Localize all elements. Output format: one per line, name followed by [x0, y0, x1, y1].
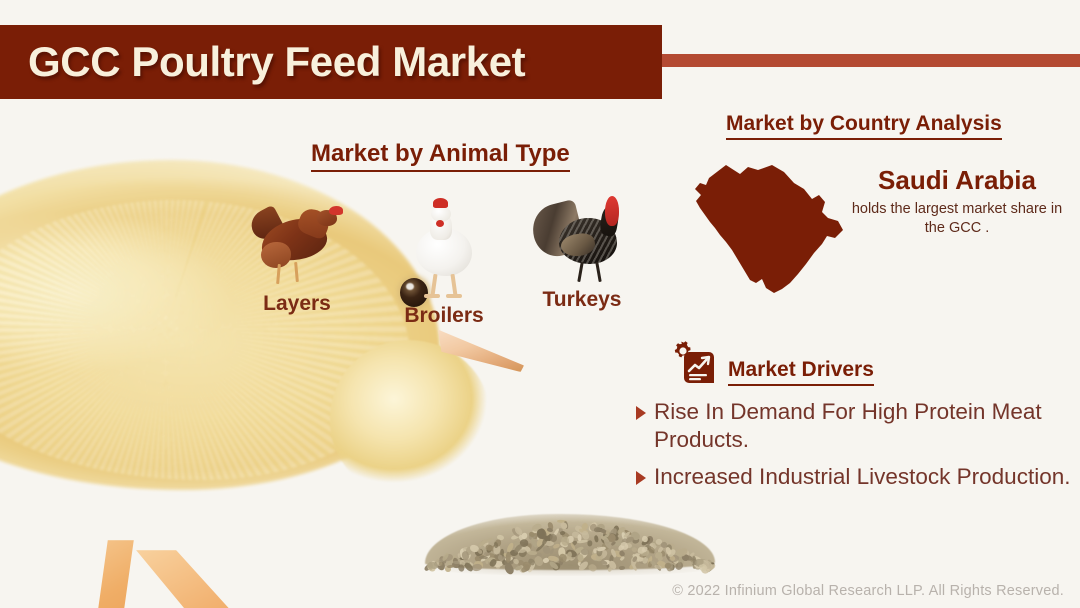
- feed-grain: [647, 547, 655, 554]
- feed-grain: [518, 559, 525, 567]
- feed-grain: [632, 564, 638, 572]
- feed-grain: [518, 537, 529, 548]
- feed-grain: [527, 558, 536, 567]
- feed-grain: [588, 540, 594, 547]
- feed-grain: [674, 561, 684, 571]
- feed-grain: [667, 544, 676, 555]
- feed-grain: [490, 543, 502, 553]
- feed-grain: [690, 559, 698, 565]
- feed-grain: [631, 557, 638, 564]
- feed-grain: [537, 529, 543, 535]
- feed-grain: [452, 557, 458, 563]
- feed-grain: [649, 543, 654, 551]
- feed-grain: [605, 561, 611, 569]
- feed-grain: [579, 528, 590, 537]
- feed-grain: [528, 532, 535, 538]
- feed-grain: [705, 561, 717, 573]
- feed-grain: [664, 562, 673, 569]
- feed-grain: [693, 557, 706, 569]
- feed-grain: [530, 537, 538, 548]
- feed-grain: [561, 552, 571, 562]
- feed-grain: [654, 540, 662, 547]
- feed-grain: [595, 553, 602, 561]
- section-heading-market-drivers-label: Market Drivers: [728, 358, 874, 386]
- feed-grain: [646, 546, 657, 554]
- feed-grain: [697, 560, 704, 566]
- feed-grain: [568, 553, 576, 561]
- feed-grain: [463, 547, 471, 552]
- feed-grain: [664, 562, 672, 570]
- feed-grain: [641, 546, 649, 554]
- feed-grain: [512, 558, 520, 565]
- feed-grain: [479, 539, 489, 550]
- country-analysis-text-block: Saudi Arabia holds the largest market sh…: [842, 165, 1072, 237]
- list-item: Rise In Demand For High Protein Meat Pro…: [636, 398, 1080, 453]
- hen-leg-left: [276, 264, 281, 284]
- feed-grain: [557, 553, 567, 563]
- feed-grain: [676, 546, 688, 558]
- feed-grain: [438, 562, 443, 567]
- feed-grain: [514, 544, 523, 553]
- feed-grain: [522, 562, 530, 570]
- feed-grain: [704, 561, 715, 571]
- feed-grain: [635, 556, 643, 563]
- feed-grain: [528, 551, 537, 554]
- feed-grain: [613, 540, 623, 545]
- feed-grain: [623, 531, 631, 539]
- feed-grain: [496, 564, 502, 569]
- feed-grain: [451, 554, 457, 563]
- feed-grain: [600, 558, 609, 568]
- feed-grain: [504, 556, 511, 562]
- feed-grain: [433, 561, 444, 568]
- feed-grain: [553, 556, 560, 562]
- animal-type-turkeys: Turkeys: [527, 190, 637, 312]
- feed-grain: [465, 546, 472, 555]
- feed-grain: [581, 548, 589, 554]
- feed-grain: [577, 555, 586, 564]
- feed-grain: [609, 554, 613, 563]
- feed-grain: [692, 562, 699, 570]
- country-name: Saudi Arabia: [842, 165, 1072, 196]
- feed-grain: [631, 546, 638, 553]
- feed-grain: [495, 539, 502, 546]
- hen-leg-right: [294, 262, 299, 282]
- feed-grain: [650, 560, 657, 567]
- feed-grain: [667, 563, 675, 572]
- feed-grain: [577, 554, 585, 563]
- feed-pile-shadow: [435, 562, 707, 576]
- feed-grain: [674, 554, 685, 566]
- animal-type-label-layers: Layers: [243, 292, 351, 316]
- feed-grain: [695, 559, 705, 567]
- feed-grain: [430, 562, 439, 570]
- feed-grain: [485, 544, 493, 553]
- feed-grain: [517, 564, 526, 574]
- feed-grain: [692, 559, 700, 567]
- feed-grain: [665, 547, 672, 556]
- feed-grain: [579, 528, 589, 533]
- feed-grain: [528, 533, 536, 540]
- turkey-wattle: [605, 196, 619, 226]
- saudi-arabia-map-icon: [686, 152, 856, 302]
- feed-grain: [531, 532, 539, 540]
- feed-grain: [626, 544, 634, 550]
- feed-grain: [572, 540, 578, 546]
- feed-grain: [515, 544, 521, 550]
- feed-grain: [543, 541, 553, 547]
- broiler-leg-left: [430, 274, 437, 296]
- feed-grain: [613, 526, 619, 537]
- feed-grain: [500, 549, 504, 559]
- feed-grain: [552, 543, 560, 550]
- feed-grain: [547, 528, 554, 533]
- feed-grain: [609, 527, 618, 538]
- feed-grain: [577, 534, 581, 542]
- feed-grain: [689, 558, 695, 564]
- feed-grain: [492, 554, 502, 564]
- feed-grain: [600, 535, 611, 545]
- feed-grain: [533, 555, 545, 567]
- feed-grain: [655, 538, 663, 546]
- triangle-bullet-icon: [636, 471, 646, 485]
- feed-grain: [439, 562, 446, 571]
- feed-grain: [484, 551, 491, 556]
- feed-grain: [694, 555, 703, 562]
- feed-grain: [632, 555, 638, 562]
- section-heading-animal-type-label: Market by Animal Type: [311, 140, 570, 172]
- feed-grain: [655, 564, 662, 571]
- feed-grain: [644, 545, 651, 551]
- feed-pile-mound: [425, 514, 715, 570]
- feed-grain: [594, 548, 598, 554]
- feed-grain: [517, 549, 524, 554]
- feed-grain: [667, 552, 675, 559]
- feed-grain: [611, 536, 621, 542]
- feed-grain: [597, 545, 607, 552]
- feed-grain: [611, 540, 616, 545]
- broiler-comb: [433, 198, 448, 208]
- infographic-canvas: GCC Poultry Feed Market Market by Animal…: [0, 0, 1080, 608]
- feed-grain: [587, 521, 597, 532]
- feed-grain: [518, 548, 526, 553]
- feed-grain: [612, 550, 624, 559]
- feed-grain: [542, 545, 552, 555]
- feed-grain: [542, 557, 549, 564]
- feed-grain: [666, 547, 676, 558]
- feed-grain: [569, 542, 576, 551]
- feed-grain: [670, 558, 678, 565]
- chick-leg-left: [48, 540, 178, 608]
- feed-grain: [658, 556, 664, 562]
- feed-grain: [474, 555, 482, 563]
- hen-comb: [329, 206, 343, 215]
- feed-grain: [675, 551, 682, 557]
- feed-grain: [638, 548, 649, 559]
- feed-grain: [503, 562, 512, 570]
- feed-grain: [536, 538, 545, 547]
- feed-grain: [509, 550, 518, 557]
- feed-grain: [604, 531, 610, 536]
- feed-grain: [484, 557, 489, 565]
- feed-grain: [566, 551, 572, 560]
- feed-grain: [671, 557, 679, 565]
- feed-grain: [666, 544, 673, 553]
- section-heading-market-drivers: Market Drivers: [728, 358, 874, 386]
- feed-grain: [484, 543, 489, 547]
- feed-grain: [596, 528, 604, 534]
- feed-grain: [639, 553, 647, 558]
- feed-grain: [617, 543, 625, 551]
- feed-grain: [628, 563, 637, 571]
- feed-grain: [506, 552, 511, 563]
- feed-grain: [536, 537, 544, 548]
- market-driver-text: Rise In Demand For High Protein Meat Pro…: [654, 398, 1080, 453]
- feed-grain: [641, 535, 649, 543]
- feed-grain: [649, 542, 657, 548]
- feed-grain: [536, 543, 546, 553]
- feed-grain: [600, 534, 611, 543]
- feed-grain: [534, 551, 543, 559]
- feed-grain: [492, 560, 503, 568]
- feed-grain: [597, 549, 609, 562]
- feed-grain: [503, 559, 512, 567]
- feed-grain: [657, 548, 668, 558]
- feed-grain: [560, 521, 569, 530]
- feed-grain: [497, 535, 504, 541]
- section-heading-country-analysis: Market by Country Analysis: [726, 112, 1002, 140]
- feed-grain: [514, 545, 521, 552]
- feed-grain: [504, 556, 512, 562]
- feed-grain: [619, 556, 625, 562]
- feed-grain: [549, 548, 554, 555]
- feed-grain: [704, 561, 712, 568]
- feed-grain: [600, 559, 608, 566]
- feed-grain: [560, 535, 571, 546]
- chick-leg-right: [120, 550, 320, 608]
- feed-grain: [485, 543, 494, 552]
- feed-grain: [523, 542, 531, 549]
- market-driver-text: Increased Industrial Livestock Productio…: [654, 463, 1070, 491]
- gear-report-chart-icon: [668, 341, 720, 385]
- broiler-foot-left: [424, 294, 440, 298]
- poultry-feed-pile: [425, 500, 715, 572]
- feed-grain: [483, 536, 492, 544]
- feed-grain: [541, 536, 548, 545]
- feed-grain: [702, 560, 713, 573]
- feed-grain: [692, 558, 703, 566]
- feed-grain: [705, 562, 717, 573]
- feed-grain: [518, 549, 528, 559]
- feed-grain: [616, 526, 626, 536]
- feed-grain: [683, 550, 691, 561]
- feed-grain: [521, 545, 531, 554]
- feed-grain: [621, 542, 625, 547]
- hen-breast: [261, 242, 291, 268]
- title-bar: GCC Poultry Feed Market: [0, 25, 662, 99]
- feed-grain: [527, 560, 539, 571]
- feed-grain: [580, 530, 591, 542]
- feed-grain: [521, 532, 529, 540]
- chick-beak: [438, 326, 524, 372]
- feed-grain: [548, 556, 558, 562]
- feed-grain: [684, 554, 693, 561]
- feed-grain: [654, 563, 663, 570]
- feed-grain: [566, 549, 578, 558]
- feed-grain: [545, 540, 551, 547]
- feed-grain: [679, 557, 683, 564]
- feed-grain: [668, 553, 680, 562]
- feed-grain: [647, 545, 656, 554]
- feed-grain: [463, 562, 474, 573]
- feed-grain: [444, 565, 451, 572]
- feed-grain: [435, 558, 442, 565]
- feed-grain: [488, 558, 496, 567]
- feed-grain: [549, 561, 560, 571]
- feed-grain: [532, 529, 537, 534]
- feed-grain: [678, 562, 681, 567]
- feed-grain: [437, 560, 443, 566]
- feed-grain: [442, 552, 450, 561]
- feed-grain: [574, 525, 584, 533]
- feed-grain: [504, 562, 516, 575]
- feed-grain: [523, 564, 531, 571]
- feed-grain: [597, 524, 605, 532]
- section-heading-animal-type: Market by Animal Type: [311, 140, 570, 172]
- feed-grain: [625, 536, 634, 544]
- feed-grain: [589, 522, 598, 531]
- feed-grain: [511, 527, 521, 537]
- feed-grain: [503, 559, 512, 564]
- feed-grain: [476, 553, 485, 560]
- feed-grain: [429, 564, 434, 570]
- feed-grain: [680, 553, 687, 559]
- feed-grain: [700, 563, 713, 576]
- feed-grain: [486, 552, 495, 557]
- feed-grain: [602, 537, 612, 549]
- feed-grain: [536, 527, 548, 540]
- feed-grain: [503, 552, 513, 560]
- feed-grain: [632, 537, 640, 544]
- feed-grain: [701, 560, 712, 569]
- feed-grain: [596, 547, 602, 556]
- feed-grain: [642, 557, 649, 565]
- feed-grain: [648, 561, 653, 568]
- feed-grain: [581, 522, 590, 531]
- feed-grain: [606, 565, 613, 573]
- feed-grain: [647, 556, 652, 566]
- feed-grain: [512, 540, 521, 548]
- feed-grain: [427, 562, 433, 569]
- feed-grain: [470, 545, 480, 553]
- feed-grain: [480, 554, 491, 562]
- feed-grain: [471, 563, 482, 572]
- feed-grain: [645, 554, 651, 560]
- chick-body: [0, 160, 440, 490]
- page-title: GCC Poultry Feed Market: [0, 38, 525, 86]
- feed-grain: [434, 559, 446, 571]
- feed-grain: [559, 530, 565, 535]
- feed-grain: [510, 534, 520, 541]
- feed-grain: [453, 561, 460, 565]
- feed-grain: [594, 535, 599, 543]
- feed-grain: [698, 560, 704, 564]
- feed-grain: [506, 541, 514, 552]
- feed-grain: [699, 564, 708, 572]
- feed-grain: [659, 541, 667, 549]
- feed-grain: [431, 561, 437, 568]
- feed-grain: [442, 552, 453, 562]
- feed-grain: [639, 559, 647, 564]
- feed-grain: [578, 548, 590, 561]
- feed-grain: [508, 556, 517, 566]
- title-accent-rule: [662, 54, 1080, 67]
- feed-grain: [485, 549, 492, 555]
- feed-grain: [630, 530, 641, 540]
- feed-grain: [620, 541, 629, 550]
- feed-grain: [477, 548, 483, 554]
- feed-grain: [522, 561, 532, 570]
- feed-grain: [520, 566, 528, 573]
- feed-grain: [571, 553, 577, 560]
- feed-grain: [493, 552, 503, 562]
- feed-grain: [618, 565, 625, 570]
- feed-grain: [531, 522, 543, 534]
- feed-grain: [605, 529, 609, 535]
- feed-grain: [513, 526, 524, 537]
- feed-grain: [494, 544, 501, 554]
- feed-grain: [465, 560, 474, 567]
- animal-type-layers: Layers: [243, 198, 351, 316]
- hen-icon: [243, 198, 351, 290]
- feed-grain: [676, 548, 683, 556]
- feed-grain: [640, 537, 651, 548]
- feed-grain: [472, 546, 480, 552]
- feed-grain: [640, 550, 649, 557]
- feed-grain: [657, 546, 664, 553]
- feed-grain: [604, 531, 610, 542]
- feed-grain: [474, 561, 484, 570]
- turkey-icon: [527, 190, 637, 286]
- feed-grain: [669, 565, 675, 572]
- feed-grain: [525, 542, 532, 552]
- feed-grain: [547, 522, 554, 530]
- feed-grain: [474, 547, 484, 557]
- feed-grain: [604, 533, 615, 539]
- feed-grain: [609, 548, 617, 558]
- feed-grain: [552, 562, 562, 571]
- feed-grain: [518, 547, 525, 553]
- feed-grain: [465, 560, 470, 568]
- feed-grain: [625, 543, 632, 549]
- feed-grain: [457, 553, 461, 558]
- feed-grain: [631, 553, 640, 561]
- turkey-leg-right: [595, 262, 601, 282]
- feed-grain: [447, 559, 451, 567]
- feed-grain: [550, 534, 557, 542]
- feed-grain: [703, 562, 710, 569]
- feed-grain: [458, 547, 468, 559]
- feed-grain: [572, 546, 584, 556]
- feed-grain: [669, 555, 675, 561]
- feed-grain: [461, 551, 471, 562]
- feed-grain: [501, 559, 508, 566]
- triangle-bullet-icon: [636, 406, 646, 420]
- feed-grain: [459, 560, 466, 567]
- feed-grain: [651, 541, 657, 547]
- feed-grain: [560, 530, 571, 541]
- feed-grain: [447, 564, 454, 568]
